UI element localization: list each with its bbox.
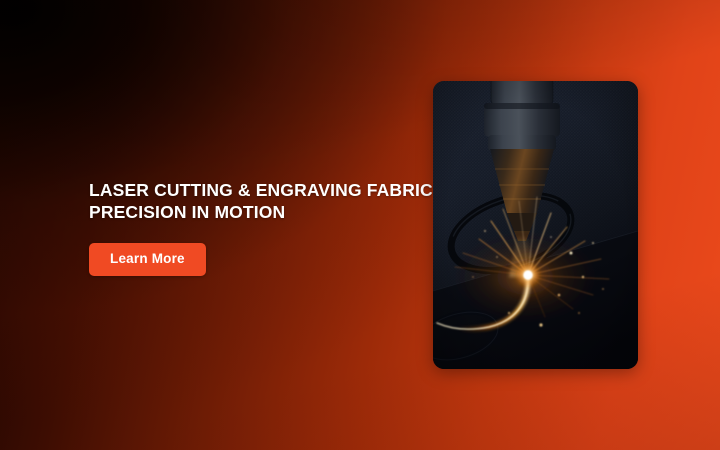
- hero-copy-block: LASER CUTTING & ENGRAVING FABRIC PRECISI…: [89, 179, 439, 276]
- hero-image-card: [433, 81, 638, 369]
- headline-line-1: LASER CUTTING & ENGRAVING FABRIC: [89, 180, 433, 200]
- laser-cutting-photo: [433, 81, 638, 369]
- headline-line-2: PRECISION IN MOTION: [89, 201, 439, 223]
- laser-cutting-illustration: [433, 81, 638, 369]
- page-title: LASER CUTTING & ENGRAVING FABRIC PRECISI…: [89, 179, 439, 223]
- learn-more-button[interactable]: Learn More: [89, 243, 206, 276]
- hero-banner: LASER CUTTING & ENGRAVING FABRIC PRECISI…: [0, 0, 720, 450]
